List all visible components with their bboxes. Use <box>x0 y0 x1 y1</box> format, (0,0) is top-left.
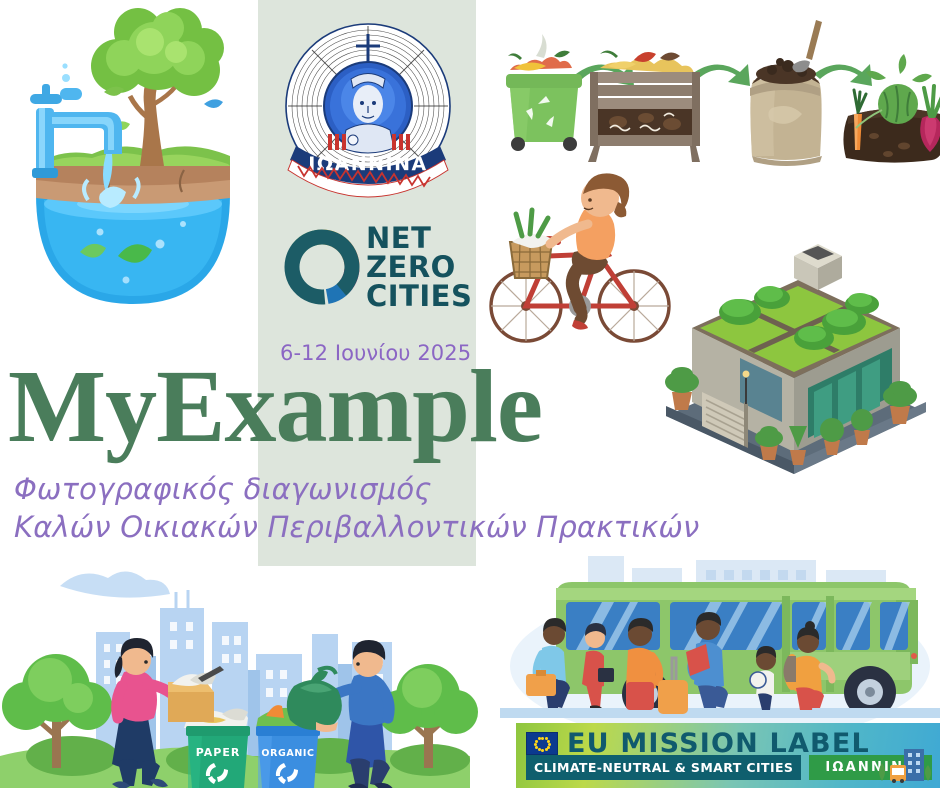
page-title: MyExample <box>8 355 542 459</box>
organic-bin-label: ORGANIC <box>261 748 314 759</box>
netzerocities-wordmark: NET ZERO CITIES <box>366 224 472 311</box>
smart-city-icon <box>874 747 934 783</box>
public-transport-illustration <box>500 556 940 734</box>
eu-banner-bottom-row: CLIMATE-NEUTRAL & SMART CITIES ΙΩΑΝΝΙΝΑ <box>526 755 932 780</box>
water-conservation-illustration <box>8 8 258 308</box>
emblem-label: ΙΩΑΝΝΙΝΑ <box>308 153 427 175</box>
subtitle-line-2: Καλών Οικιακών Περιβαλλοντικών Πρακτικών <box>14 508 699 546</box>
recycling-park-illustration: PAPER ORGANIC <box>0 560 470 788</box>
green-roof-building-illustration <box>648 216 938 474</box>
netzero-line-net: NET <box>366 224 472 253</box>
netzero-line-zero: ZERO <box>366 253 472 282</box>
netzerocities-ring-logo <box>278 222 366 312</box>
poster-canvas: ΙΩΑΝΝΙΝΑ NET ZERO CITIES <box>0 0 940 788</box>
subtitle: Φωτογραφικός διαγωνισμός Καλών Οικιακών … <box>14 470 699 546</box>
ioannina-municipal-emblem: ΙΩΑΝΝΙΝΑ <box>276 18 461 198</box>
netzero-line-cities: CITIES <box>366 282 472 311</box>
eu-banner-tagline: CLIMATE-NEUTRAL & SMART CITIES <box>526 755 801 780</box>
subtitle-line-1: Φωτογραφικός διαγωνισμός <box>14 470 699 508</box>
eu-flag-icon <box>526 732 558 755</box>
composting-process-illustration <box>484 12 936 162</box>
paper-bin-label: PAPER <box>196 746 241 759</box>
eu-mission-label-banner: EU MISSION LABEL CLIMATE-NEUTRAL & SMART… <box>516 723 940 788</box>
